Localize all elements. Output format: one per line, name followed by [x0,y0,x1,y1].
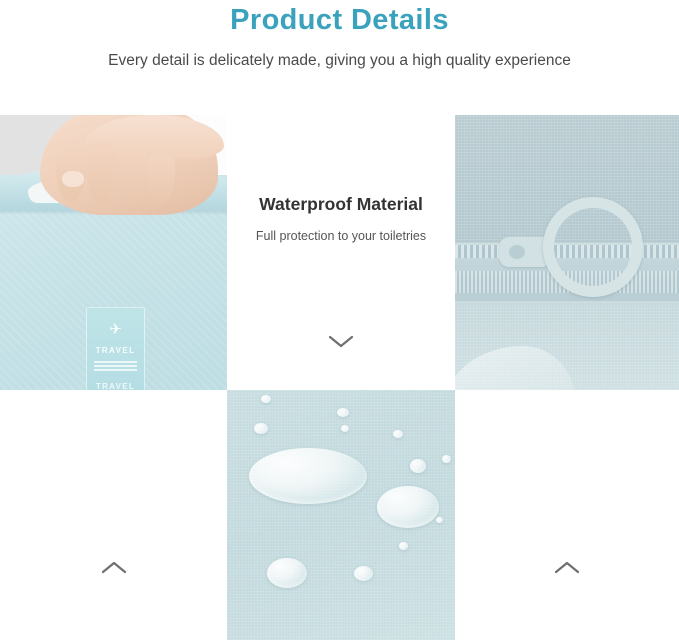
feature-grid: ✈ TRAVEL TRAVEL Waterproof Material Full… [0,115,679,640]
water-droplet [436,517,443,523]
feature-heavy-duty-zippers: Heavy Duty Zippers Well-designed smooth … [455,390,679,640]
water-droplet [261,395,271,403]
water-droplet [254,423,268,434]
feature-description: Full protection to your toiletries [227,227,455,245]
water-droplet [267,558,307,588]
water-droplet [377,486,439,528]
water-droplet [337,408,349,417]
travel-tag-label-bottom: TRAVEL [87,382,144,390]
page-subtitle: Every detail is delicately made, giving … [0,38,679,71]
water-droplet [399,542,408,550]
product-details-page: Product Details Every detail is delicate… [0,0,679,640]
water-droplet [442,455,451,463]
water-droplet [410,459,426,473]
travel-tag: ✈ TRAVEL TRAVEL [86,307,145,390]
feature-title: Waterproof Material [227,193,455,215]
zipper-ring-pull [543,197,643,297]
chevron-up-icon [455,560,679,578]
travel-tag-label: TRAVEL [87,346,144,355]
water-droplet [341,425,349,432]
header: Product Details Every detail is delicate… [0,0,679,115]
droplets-photo-art [227,390,455,640]
water-droplet [393,430,403,438]
zipper-slider-hole [509,245,525,259]
water-droplet [354,566,373,581]
feature-durable-handle-strap: Durable Handle Strap Convenient to carry… [0,390,227,640]
zipper-photo-art [455,115,679,390]
travel-tag-lines [87,361,144,371]
page-title: Product Details [0,0,679,38]
handle-photo-art: ✈ TRAVEL TRAVEL [0,115,227,390]
chevron-up-icon [0,560,227,578]
feature-waterproof-material: Waterproof Material Full protection to y… [227,115,455,390]
hand-holding-handle-photo: ✈ TRAVEL TRAVEL [0,115,227,390]
zipper-ring-pull-photo [455,115,679,390]
chevron-down-icon [227,333,455,351]
zipper-slider [499,237,547,267]
water-droplet [249,448,367,504]
water-droplets-fabric-photo [227,390,455,640]
airplane-icon: ✈ [87,322,144,337]
fingernail [62,171,84,187]
